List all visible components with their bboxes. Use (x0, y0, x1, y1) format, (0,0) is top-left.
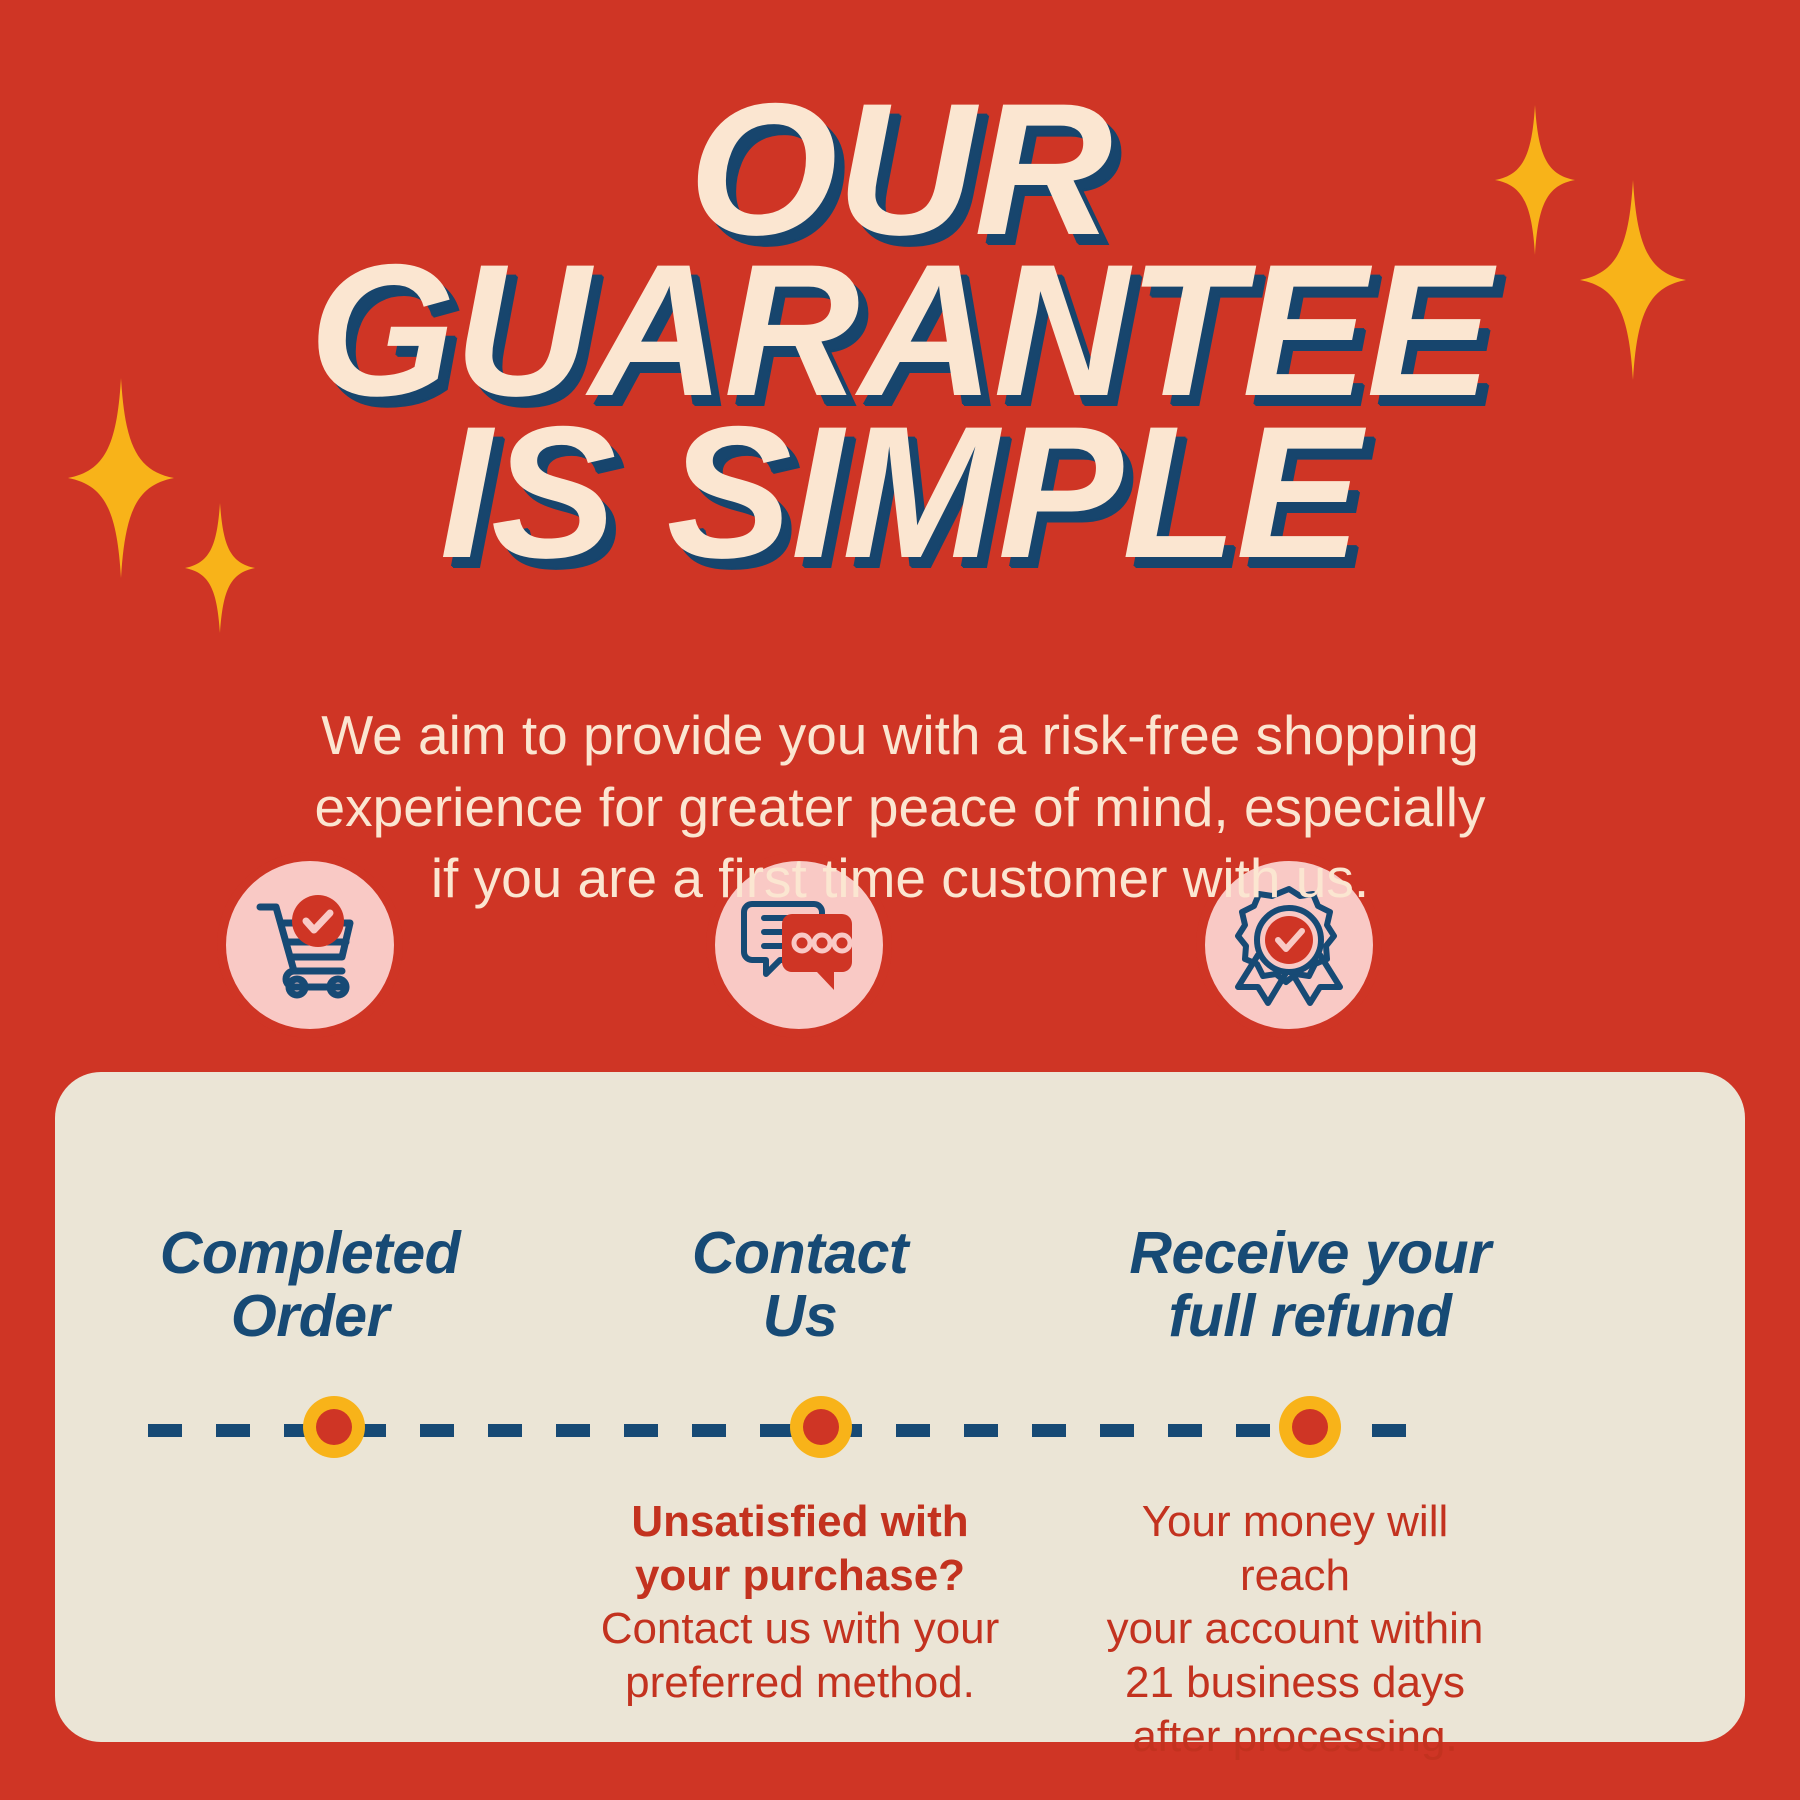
step-3-body-line-4: after processing. (1085, 1710, 1505, 1764)
subtitle-line-2: experience for greater peace of mind, es… (250, 772, 1550, 844)
step-2-title-line-1: Contact (610, 1222, 990, 1285)
page-title: OUR GUARANTEE IS SIMPLE (0, 80, 1800, 582)
timeline-dot-2 (790, 1396, 852, 1458)
step-2-body-bold-line-1: Unsatisfied with (600, 1495, 1000, 1549)
subtitle-line-3: if you are a first time customer with us… (250, 843, 1550, 915)
step-2-body: Unsatisfied with your purchase? Contact … (600, 1495, 1000, 1710)
poster-canvas: OUR GUARANTEE IS SIMPLE We aim to provid… (0, 0, 1800, 1800)
step-1-column: Completed Order (120, 1222, 500, 1347)
step-3-body: Your money will reach your account withi… (1085, 1495, 1505, 1763)
headline-line-1: OUR (0, 80, 1800, 259)
headline-line-3: IS SIMPLE (0, 403, 1800, 582)
step-2-title-line-2: Us (610, 1285, 990, 1348)
timeline-dot-1-core (316, 1409, 352, 1445)
step-1-title-line-2: Order (120, 1285, 500, 1348)
timeline-dot-1 (303, 1396, 365, 1458)
subtitle-line-1: We aim to provide you with a risk-free s… (250, 700, 1550, 772)
step-2-title: Contact Us (610, 1222, 990, 1347)
step-3-title: Receive your full refund (1100, 1222, 1520, 1347)
progress-timeline (148, 1420, 1438, 1434)
step-2-body-bold-line-2: your purchase? (600, 1549, 1000, 1603)
timeline-dot-3 (1279, 1396, 1341, 1458)
step-3-column: Receive your full refund (1100, 1222, 1520, 1347)
step-3-body-line-1: Your money will reach (1085, 1495, 1505, 1602)
step-2-body-line-2: preferred method. (600, 1656, 1000, 1710)
step-2-column: Contact Us (610, 1222, 990, 1347)
timeline-dot-3-core (1292, 1409, 1328, 1445)
step-3-body-line-3: 21 business days (1085, 1656, 1505, 1710)
step-1-title-line-1: Completed (120, 1222, 500, 1285)
step-3-body-line-2: your account within (1085, 1602, 1505, 1656)
timeline-dot-2-core (803, 1409, 839, 1445)
step-3-title-line-1: Receive your (1100, 1222, 1520, 1285)
step-3-title-line-2: full refund (1100, 1285, 1520, 1348)
subtitle: We aim to provide you with a risk-free s… (250, 700, 1550, 915)
step-2-body-line-1: Contact us with your (600, 1602, 1000, 1656)
step-1-title: Completed Order (120, 1222, 500, 1347)
